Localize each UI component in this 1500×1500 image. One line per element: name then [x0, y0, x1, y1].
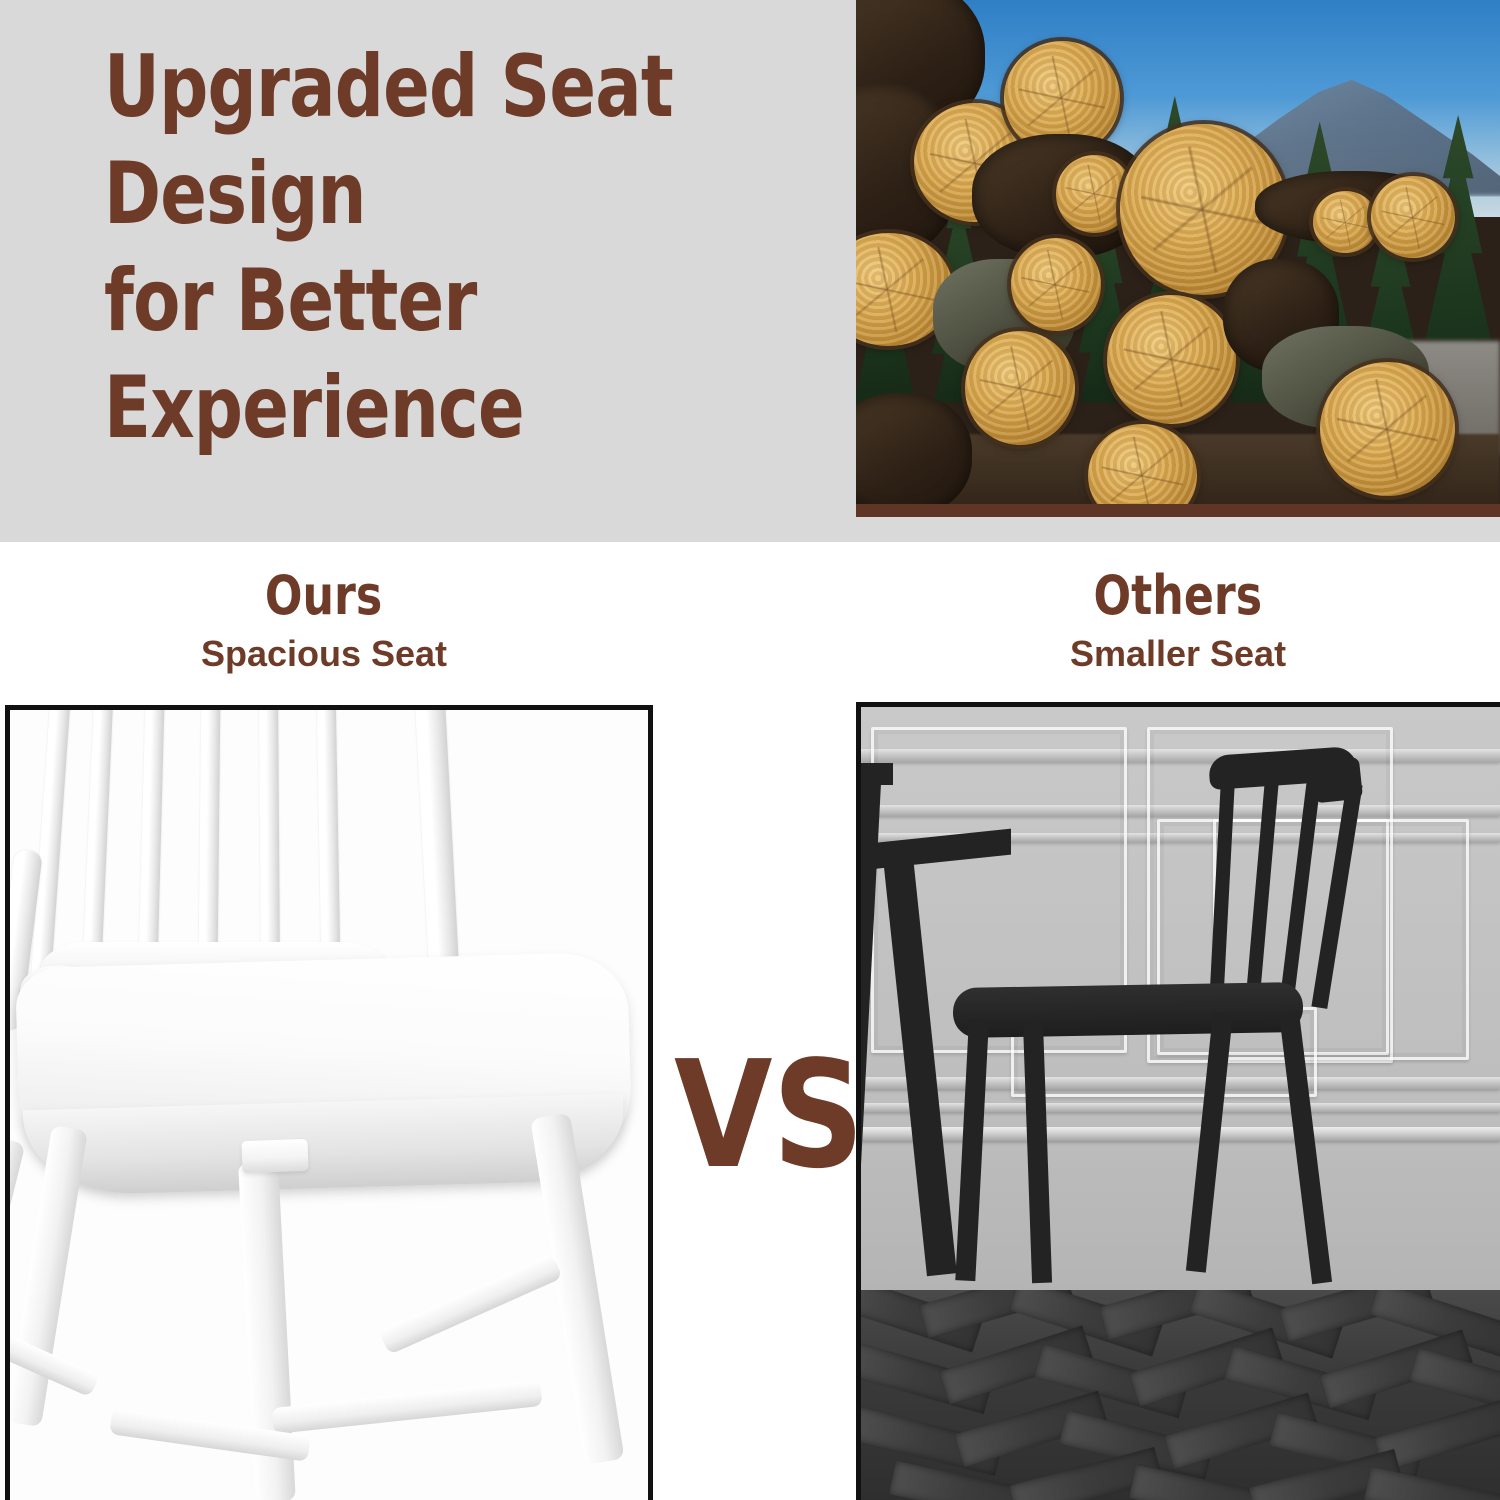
ours-chair-photo [5, 705, 653, 1500]
chair-stretcher-front [271, 1380, 542, 1434]
ours-title: Ours [265, 568, 382, 624]
dark-chair-illustration [861, 707, 1500, 1500]
chair-spindle [317, 705, 340, 952]
log-cross-section [1107, 295, 1236, 424]
product-comparison-infographic: Upgraded Seat Design for Better Experien… [0, 0, 1500, 1500]
ours-subtitle: Spacious Seat [0, 634, 648, 674]
stacked-logs-photo [856, 0, 1500, 517]
log-cross-section [1313, 191, 1377, 253]
others-title: Others [1094, 568, 1263, 624]
dark-table-edge [861, 763, 893, 785]
log-cross-section [1011, 238, 1101, 331]
wall-baseboard-top [861, 1103, 1500, 1112]
log-cross-section [965, 331, 1074, 445]
vs-label: VS [674, 1040, 846, 1190]
photo-accent-bar [856, 504, 1500, 517]
chair-spindle [259, 705, 280, 958]
chair-stretcher-side [379, 1254, 563, 1355]
log-cross-section [1320, 362, 1455, 496]
herringbone-floor [861, 1290, 1500, 1500]
white-chair-illustration [10, 710, 648, 1500]
chair-seat [953, 982, 1304, 1038]
chair-back-post [415, 705, 459, 969]
log-cross-section [1371, 176, 1455, 259]
chair-spindle [82, 705, 113, 980]
others-column-heading: Others Smaller Seat [856, 568, 1500, 674]
chair-leg-rear-right [530, 1113, 624, 1465]
others-subtitle: Smaller Seat [856, 634, 1500, 674]
chair-seat-apron [241, 1139, 308, 1173]
log-bark-bottom [856, 393, 972, 517]
chair-spindle [199, 705, 221, 962]
chair-spindle [138, 705, 164, 970]
ours-column-heading: Ours Spacious Seat [0, 568, 648, 674]
page-title: Upgraded Seat Design for Better Experien… [104, 34, 680, 462]
wall-baseboard [861, 1127, 1500, 1141]
others-chair-photo [856, 702, 1500, 1500]
